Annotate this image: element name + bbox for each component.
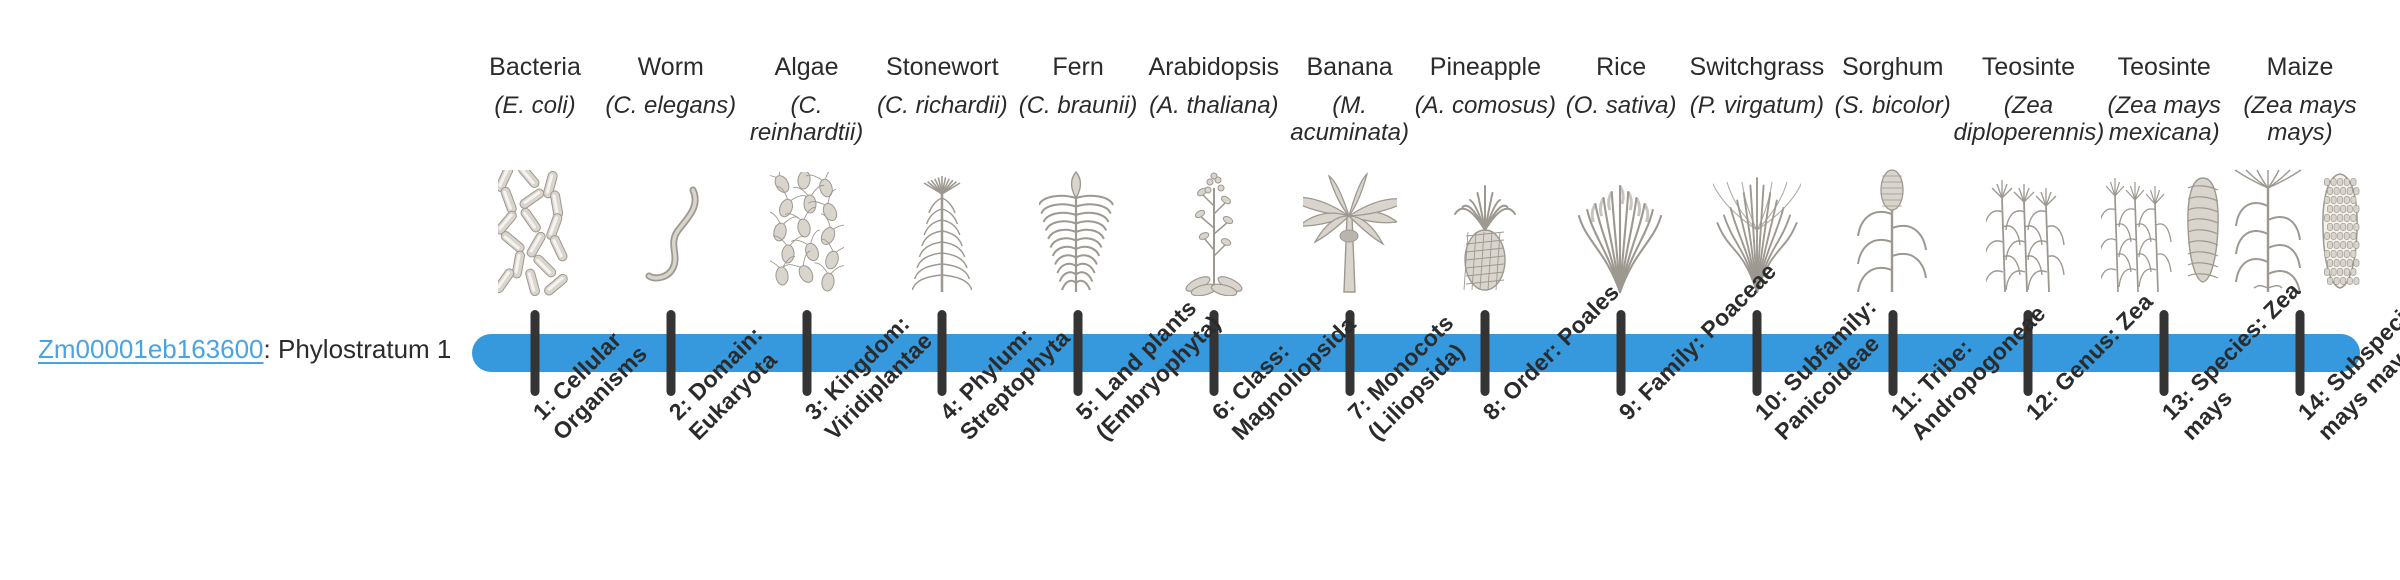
species-common-name: Pineapple — [1410, 52, 1560, 82]
species-latin-name: (C. richardii) — [867, 92, 1017, 119]
species-latin-name: (C. braunii) — [1003, 92, 1153, 119]
species-latin-name: (Zea mays mays) — [2225, 92, 2375, 146]
species-common-name: Teosinte — [2089, 52, 2239, 82]
species-common-name: Banana — [1275, 52, 1425, 82]
species-column-10: Switchgrass (P. virgatum) — [1682, 52, 1832, 119]
species-common-name: Maize — [2225, 52, 2375, 82]
species-column-9: Rice (O. sativa) — [1546, 52, 1696, 119]
species-column-6: Arabidopsis (A. thaliana) — [1139, 52, 1289, 119]
species-latin-name: (P. virgatum) — [1682, 92, 1832, 119]
phylostratum-value: Phylostratum 1 — [278, 334, 451, 364]
species-column-12: Teosinte (Zea diploperennis) — [1953, 52, 2103, 146]
phylostratum-tick-9[interactable] — [1617, 310, 1626, 396]
species-latin-name: (E. coli) — [460, 92, 610, 119]
species-column-8: Pineapple (A. comosus) — [1410, 52, 1560, 119]
species-common-name: Sorghum — [1818, 52, 1968, 82]
species-latin-name: (A. comosus) — [1410, 92, 1560, 119]
species-column-1: Bacteria (E. coli) — [460, 52, 610, 119]
gene-id-link[interactable]: Zm00001eb163600 — [38, 334, 264, 364]
phylostratum-tick-10[interactable] — [1752, 310, 1761, 396]
species-latin-name: (C. reinhardtii) — [732, 92, 882, 146]
species-common-name: Stonewort — [867, 52, 1017, 82]
species-common-name: Switchgrass — [1682, 52, 1832, 82]
phylostratum-figure: Zm00001eb163600: Phylostratum 1 Bacteria… — [0, 0, 2400, 580]
species-column-13: Teosinte (Zea mays mexicana) — [2089, 52, 2239, 146]
species-latin-name: (Zea mays mexicana) — [2089, 92, 2239, 146]
gene-label-separator: : — [264, 334, 278, 364]
species-latin-name: (A. thaliana) — [1139, 92, 1289, 119]
species-common-name: Rice — [1546, 52, 1696, 82]
gene-phylostratum-label: Zm00001eb163600: Phylostratum 1 — [38, 336, 451, 362]
species-common-name: Algae — [732, 52, 882, 82]
species-common-name: Teosinte — [1953, 52, 2103, 82]
species-latin-name: (C. elegans) — [596, 92, 746, 119]
bacteria-rods-icon — [498, 168, 572, 296]
species-column-7: Banana (M. acuminata) — [1275, 52, 1425, 146]
phylostratum-tick-1[interactable] — [531, 310, 540, 396]
species-common-name: Arabidopsis — [1139, 52, 1289, 82]
phylostratum-tick-13[interactable] — [2160, 310, 2169, 396]
species-column-4: Stonewort (C. richardii) — [867, 52, 1017, 119]
species-column-14: Maize (Zea mays mays) — [2225, 52, 2375, 146]
species-column-2: Worm (C. elegans) — [596, 52, 746, 119]
species-latin-name: (Zea diploperennis) — [1953, 92, 2103, 146]
species-column-5: Fern (C. braunii) — [1003, 52, 1153, 119]
species-common-name: Bacteria — [460, 52, 610, 82]
species-common-name: Fern — [1003, 52, 1153, 82]
species-latin-name: (S. bicolor) — [1818, 92, 1968, 119]
species-common-name: Worm — [596, 52, 746, 82]
species-column-3: Algae (C. reinhardtii) — [732, 52, 882, 146]
species-latin-name: (O. sativa) — [1546, 92, 1696, 119]
species-latin-name: (M. acuminata) — [1275, 92, 1425, 146]
species-column-11: Sorghum (S. bicolor) — [1818, 52, 1968, 119]
